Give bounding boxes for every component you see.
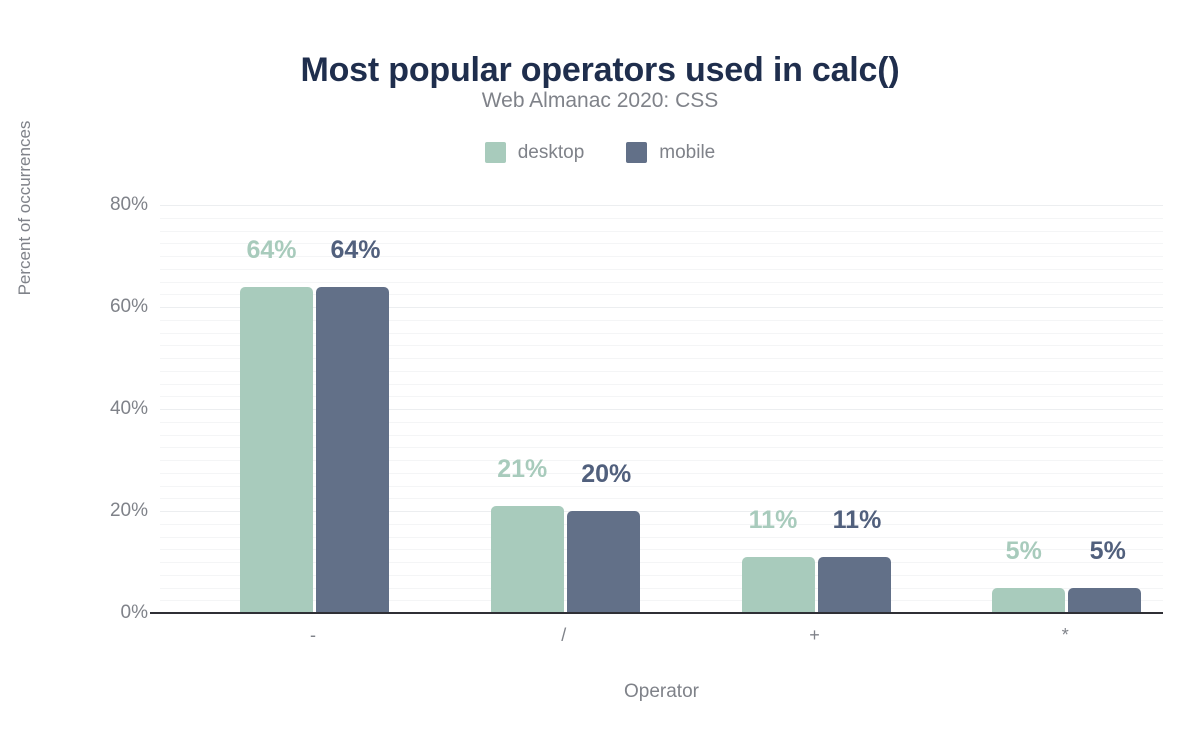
legend-swatch-desktop: [485, 142, 506, 163]
bar-label-mobile-+: 11%: [821, 508, 894, 533]
chart-legend: desktop mobile: [0, 142, 1200, 163]
bar-label-mobile--: 64%: [319, 238, 392, 263]
x-axis-tick-label: -: [233, 626, 393, 644]
plot-area: 64%64%21%20%11%11%5%5%: [160, 205, 1163, 613]
legend-swatch-mobile: [626, 142, 647, 163]
y-axis-tick-label: 80%: [110, 195, 148, 214]
y-axis-tick-label: 60%: [110, 297, 148, 316]
bar-desktop-+[interactable]: [742, 557, 815, 613]
legend-label-desktop: desktop: [518, 143, 585, 162]
x-axis-line: [150, 612, 1163, 614]
bar-group: 11%11%: [735, 205, 898, 613]
bar-label-desktop-+: 11%: [737, 508, 810, 533]
bar-group: 5%5%: [985, 205, 1148, 613]
bar-mobile-*[interactable]: [1068, 588, 1141, 614]
bar-label-mobile-/: 20%: [570, 462, 643, 487]
bar-mobile--[interactable]: [316, 287, 389, 613]
legend-item-desktop[interactable]: desktop: [485, 142, 585, 163]
bar-desktop-*[interactable]: [992, 588, 1065, 614]
bar-mobile-+[interactable]: [818, 557, 891, 613]
bar-group: 64%64%: [233, 205, 396, 613]
bar-desktop-/[interactable]: [491, 506, 564, 613]
bar-desktop--[interactable]: [240, 287, 313, 613]
page-title: Most popular operators used in calc(): [0, 51, 1200, 90]
legend-item-mobile[interactable]: mobile: [626, 142, 715, 163]
x-axis-tick-label: +: [735, 626, 895, 644]
legend-label-mobile: mobile: [659, 143, 715, 162]
bar-group: 21%20%: [484, 205, 647, 613]
chart-subtitle: Web Almanac 2020: CSS: [0, 89, 1200, 113]
bar-label-mobile-*: 5%: [1071, 539, 1144, 564]
x-axis-tick-label: /: [484, 626, 644, 644]
bar-label-desktop--: 64%: [235, 238, 308, 263]
x-axis-title: Operator: [160, 681, 1163, 703]
bar-label-desktop-/: 21%: [486, 457, 559, 482]
bar-label-desktop-*: 5%: [987, 539, 1060, 564]
y-axis-title: Percent of occurrences: [15, 68, 35, 348]
y-axis-tick-label: 40%: [110, 399, 148, 418]
y-axis-tick-label: 0%: [121, 603, 148, 622]
y-axis-tick-label: 20%: [110, 501, 148, 520]
bar-mobile-/[interactable]: [567, 511, 640, 613]
x-axis-tick-label: *: [985, 626, 1145, 644]
